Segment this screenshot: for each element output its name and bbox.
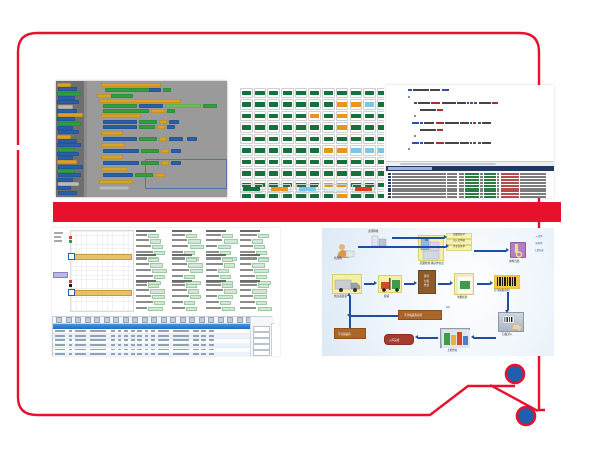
status-cell[interactable] [295,168,308,178]
grid-toolbar-icon[interactable] [94,317,100,323]
table-cell [111,353,115,355]
property-row [136,245,168,249]
palette-block[interactable] [57,117,75,121]
palette-block[interactable] [57,135,71,139]
blocks-editor-panel[interactable] [56,81,227,197]
property-row [136,307,168,311]
status-cell[interactable] [322,157,335,167]
output-log-header [386,166,554,171]
node-reject-area[interactable]: 不合格品暂存区 [398,310,442,320]
grid-toolbar-icon[interactable] [170,317,176,323]
status-cell[interactable] [240,134,253,144]
designer-toolbar-line-2 [54,236,61,238]
status-cell[interactable] [267,168,280,178]
code-line [414,135,417,137]
grid-toolbar-icon[interactable] [132,317,138,323]
status-cell[interactable] [267,134,280,144]
table-cell [75,353,87,355]
workspace-block[interactable] [149,88,161,92]
property-row [136,234,168,238]
status-cell[interactable] [336,122,349,132]
status-cell[interactable] [254,88,267,98]
property-row [172,284,204,288]
status-cell[interactable] [281,157,294,167]
table-cell [75,330,87,332]
table-cell [111,349,115,351]
status-cell[interactable] [336,145,349,155]
table-cell [118,344,122,346]
property-group-title [172,254,192,256]
table-cell [55,349,65,351]
table-cell [131,330,135,332]
node-shelving[interactable]: 上架作业 [440,328,470,348]
node-shelving-label: 上架作业 [447,349,457,352]
table-cell [151,353,155,355]
designer-canvas[interactable] [52,228,134,314]
workspace-block[interactable] [151,109,165,113]
document-check-icon [455,274,475,296]
status-cell[interactable] [363,88,376,98]
node-inspect-station[interactable]: 质量检验 确认作业点 [418,235,444,261]
workspace-block[interactable] [161,149,169,153]
status-cell[interactable] [322,168,335,178]
table-cell [90,344,106,346]
status-cell[interactable] [322,99,335,109]
grid-toolbar-icon[interactable] [189,317,195,323]
workspace-block[interactable] [103,161,139,165]
status-cell[interactable] [350,111,363,121]
status-cell[interactable] [350,134,363,144]
table-cell [193,335,198,337]
property-group-title [240,280,260,282]
status-cell[interactable] [336,157,349,167]
block-selection-box [145,159,227,189]
side-button-5[interactable] [253,350,270,356]
grid-toolbar-icon[interactable] [180,317,186,323]
workspace-block[interactable] [103,109,149,113]
node-unload[interactable]: 卸货 [378,275,402,293]
grid-toolbar-icon[interactable] [142,317,148,323]
form-designer-panel[interactable] [52,228,280,356]
status-cell[interactable] [295,88,308,98]
table-cell [173,353,189,355]
status-cell[interactable] [377,168,384,178]
palette-block[interactable] [57,186,71,190]
status-cell[interactable] [267,99,280,109]
property-group-title [136,280,156,282]
status-cell[interactable] [254,122,267,132]
status-cell[interactable] [336,134,349,144]
workspace-block[interactable] [103,120,137,124]
grid-toolbar-icon[interactable] [66,317,72,323]
table-cell [209,335,215,337]
workspace-block[interactable] [165,104,201,108]
status-cell[interactable] [350,99,363,109]
workspace-block[interactable] [139,125,155,129]
workspace-block[interactable] [187,137,197,141]
workspace-block[interactable] [139,120,157,124]
property-row [136,275,168,279]
status-cell[interactable] [267,111,280,121]
designer-label-chip [53,272,68,278]
status-cell[interactable] [267,88,280,98]
property-row [172,269,204,273]
status-cell[interactable] [363,157,376,167]
node-scale-label: 过磅称重 [368,230,378,233]
status-cell[interactable] [254,145,267,155]
palette-block[interactable] [58,191,77,195]
workspace-block[interactable] [167,125,175,129]
workspace-block[interactable] [101,155,123,159]
workspace-block[interactable] [159,137,167,141]
designer-marker-red-2 [69,280,72,283]
workspace-block[interactable] [103,137,137,141]
workspace-block[interactable] [101,131,123,135]
palette-block[interactable] [58,105,73,109]
palette-block[interactable] [58,87,77,91]
property-row [240,284,272,288]
workspace-block[interactable] [167,109,175,113]
palette-block[interactable] [57,178,73,182]
logistics-flow-panel[interactable]: 供应商 过磅称重 质量检验 确认作业点 质量验收单 出入库单据 作业任务单 [322,228,554,356]
table-cell [137,330,141,332]
log-line [388,185,547,187]
status-cell[interactable] [295,145,308,155]
workspace-block[interactable] [101,114,141,118]
table-cell [158,349,170,351]
status-cell[interactable] [377,191,384,198]
log-line [388,193,547,195]
status-cell[interactable] [363,111,376,121]
code-line [414,115,417,117]
status-cell[interactable] [240,88,253,98]
designer-bar-1[interactable] [74,254,132,260]
node-scale-station[interactable]: 过磅称重 [368,234,390,250]
node-scan-label: 扫描录入 [502,333,512,336]
status-cell[interactable] [254,111,267,121]
status-cell[interactable] [350,122,363,132]
status-cell[interactable] [363,168,376,178]
status-cell[interactable] [240,168,253,178]
table-cell [69,339,73,341]
status-cell[interactable] [240,145,253,155]
table-cell [118,349,122,351]
workspace-block[interactable] [99,180,133,184]
blocks-canvas[interactable] [87,81,227,197]
table-cell [209,339,215,341]
grid-toolbar-icon[interactable] [161,317,167,323]
workspace-block[interactable] [101,83,161,87]
property-group [240,280,272,313]
status-cell[interactable] [308,168,321,178]
status-cell[interactable] [267,145,280,155]
workspace-block[interactable] [99,186,129,190]
status-cell[interactable] [363,145,376,155]
table-cell [193,353,198,355]
accent-dot-lower [517,407,535,425]
property-row [240,263,272,267]
property-row [136,258,168,262]
status-cell[interactable] [281,168,294,178]
designer-node-2[interactable] [68,289,75,296]
status-cell[interactable] [254,99,267,109]
grid-toolbar-icon[interactable] [123,317,129,323]
palette-block[interactable] [57,143,81,147]
status-cell[interactable] [295,99,308,109]
table-cell [201,349,205,351]
status-cell[interactable] [377,122,384,132]
status-cell[interactable] [336,111,349,121]
table-cell [111,330,115,332]
status-cell[interactable] [281,145,294,155]
status-cell[interactable] [308,88,321,98]
workspace-block[interactable] [169,137,183,141]
status-cell[interactable] [308,145,321,155]
table-cell [131,335,135,337]
status-cell[interactable] [377,99,384,109]
arrowhead-shelving-to-complete [415,335,418,339]
status-cell[interactable] [377,88,384,98]
node-unload-label: 卸货 [384,295,389,298]
status-cell[interactable] [336,88,349,98]
status-cell[interactable] [254,157,267,167]
status-cell[interactable] [240,99,253,109]
data-grid-toolbar[interactable] [53,317,274,324]
code-line [414,102,499,104]
status-cell[interactable] [295,122,308,132]
workspace-block[interactable] [159,120,167,124]
grid-toolbar-icon[interactable] [218,317,224,323]
status-cell[interactable] [254,134,267,144]
status-cell[interactable] [308,122,321,132]
designer-properties[interactable] [136,228,280,314]
status-cell[interactable] [240,111,253,121]
status-cell[interactable] [350,145,363,155]
status-cell[interactable] [336,99,349,109]
node-reject-warehouse[interactable]: 不合格品库 [334,328,366,339]
node-sorting[interactable]: 拆包 分拣 作业 [418,270,436,294]
workspace-block[interactable] [101,167,127,171]
grid-toolbar-icon[interactable] [208,317,214,323]
workspace-block[interactable] [99,99,181,103]
table-cell [201,353,205,355]
grid-toolbar-icon[interactable] [104,317,110,323]
arrowhead-check-to-barcode [490,281,493,285]
arrowhead-truck-to-unload [374,281,377,285]
workspace-block[interactable] [171,149,181,153]
status-cell[interactable] [267,157,280,167]
status-cell[interactable] [295,157,308,167]
status-cell[interactable] [281,134,294,144]
table-cell [158,344,170,346]
property-row [172,289,204,293]
workspace-block[interactable] [157,125,165,129]
status-cell[interactable] [377,111,384,121]
property-row [206,258,238,262]
status-cell[interactable] [295,134,308,144]
grid-toolbar-icon[interactable] [56,317,62,323]
palette-block[interactable] [57,100,79,104]
node-delivery-truck[interactable]: 供应商送货 [332,274,362,294]
status-cell[interactable] [322,88,335,98]
node-supplier-person[interactable]: 供应商 [334,242,356,260]
node-barcode-print[interactable]: 打印粘贴条码 [494,275,520,289]
table-cell [145,353,149,355]
table-row[interactable] [53,352,271,356]
output-log-body[interactable] [386,172,554,198]
workspace-block[interactable] [103,125,137,129]
status-cell[interactable] [322,122,335,132]
forklift-icon [379,276,403,294]
workspace-block[interactable] [103,104,137,108]
property-group-title [136,254,156,256]
workspace-block[interactable] [163,88,171,92]
status-grid-panel[interactable] [238,84,384,198]
log-line [388,173,547,175]
status-cell[interactable] [363,134,376,144]
table-cell [137,353,141,355]
arrow-person-to-inspect [358,246,446,248]
property-group-title [206,254,226,256]
blocks-palette[interactable] [56,81,84,197]
palette-block[interactable] [58,148,75,152]
property-row [172,275,204,279]
status-cell[interactable] [322,134,335,144]
property-group-title [240,254,260,256]
arrow-scan-to-shelving [474,337,496,339]
workspace-block[interactable] [141,149,159,153]
data-grid-header[interactable] [53,324,271,329]
property-row [172,301,204,305]
status-cell[interactable] [322,145,335,155]
status-cell[interactable] [308,134,321,144]
status-cell[interactable] [308,111,321,121]
workspace-block[interactable] [111,94,133,98]
designer-bar-2[interactable] [74,290,132,296]
table-cell [145,335,149,337]
data-grid-sidebar[interactable] [250,317,271,356]
status-cell[interactable] [267,122,280,132]
grid-toolbar-icon[interactable] [199,317,205,323]
workspace-block[interactable] [103,173,133,177]
designer-marker-dark [69,284,72,287]
table-cell [193,330,198,332]
status-cell[interactable] [281,88,294,98]
arrow-scale-to-inspect [392,237,444,239]
palette-block[interactable] [57,160,77,164]
palette-block[interactable] [57,92,81,96]
node-quality-check[interactable]: 单据核查 [454,273,474,295]
legend-item [324,184,347,193]
weighing-scale-icon [368,234,390,250]
code-line [420,109,444,111]
status-cell[interactable] [363,99,376,109]
status-cell[interactable] [363,122,376,132]
grid-toolbar-icon[interactable] [151,317,157,323]
status-cell[interactable] [322,111,335,121]
tag-receipt-doc: 验收单 [530,243,548,246]
table-cell [75,335,87,337]
arrow-reject-up [349,296,351,316]
designer-node-1[interactable] [68,253,75,260]
status-cell[interactable] [308,157,321,167]
node-scan-entry[interactable]: 扫描录入 [498,312,524,332]
shelf-icon [441,329,471,349]
status-cell[interactable] [377,134,384,144]
status-cell[interactable] [377,145,384,155]
property-group-title [136,230,156,232]
status-grid[interactable] [240,88,384,198]
grid-toolbar-icon[interactable] [75,317,81,323]
status-cell[interactable] [308,99,321,109]
designer-marker-red [69,236,72,239]
palette-block[interactable] [58,130,79,134]
status-cell[interactable] [254,168,267,178]
property-row [172,239,204,243]
workspace-block[interactable] [103,149,139,153]
arrow-shelving-to-complete [418,337,438,339]
workspace-block[interactable] [101,143,125,147]
code-editor-panel[interactable] [386,85,554,198]
grid-toolbar-icon[interactable] [113,317,119,323]
status-cell[interactable] [350,168,363,178]
frame-connector-line [490,385,538,411]
property-row [172,234,204,238]
table-cell [151,344,155,346]
table-cell [173,335,189,337]
data-grid[interactable] [52,316,272,356]
status-cell[interactable] [350,88,363,98]
property-row [206,239,238,243]
status-cell[interactable] [377,180,384,190]
node-inbound-complete[interactable]: 入库完成 [384,334,414,345]
log-line [388,182,547,184]
grid-toolbar-icon[interactable] [85,317,91,323]
workspace-block[interactable] [139,104,163,108]
table-cell [111,339,115,341]
arrowhead-barcode-to-scan [505,310,509,313]
property-group-title [172,230,192,232]
status-cell[interactable] [350,157,363,167]
status-cell[interactable] [295,111,308,121]
table-cell [90,335,106,337]
node-archive[interactable]: 资料归档 [510,242,526,258]
workspace-block[interactable] [169,120,179,124]
node-quality-label: 单据核查 [457,296,467,299]
table-cell [193,339,198,341]
arrow-inspect-to-archive [474,250,506,252]
workspace-block[interactable] [203,104,217,108]
grid-toolbar-icon[interactable] [227,317,233,323]
code-text-area[interactable] [386,85,554,159]
table-cell [145,339,149,341]
node-reject-area-label: 不合格品暂存区 [404,314,422,317]
status-cell[interactable] [240,122,253,132]
status-cell[interactable] [281,99,294,109]
table-cell [158,335,170,337]
workspace-block[interactable] [139,137,157,141]
status-cell[interactable] [336,168,349,178]
grid-toolbar-icon[interactable] [237,317,243,323]
palette-block[interactable] [58,173,81,177]
status-cell[interactable] [281,111,294,121]
status-cell[interactable] [240,157,253,167]
red-divider-banner [53,202,561,222]
status-cell[interactable] [377,157,384,167]
property-row [240,289,272,293]
table-cell [69,335,73,337]
status-cell[interactable] [281,122,294,132]
